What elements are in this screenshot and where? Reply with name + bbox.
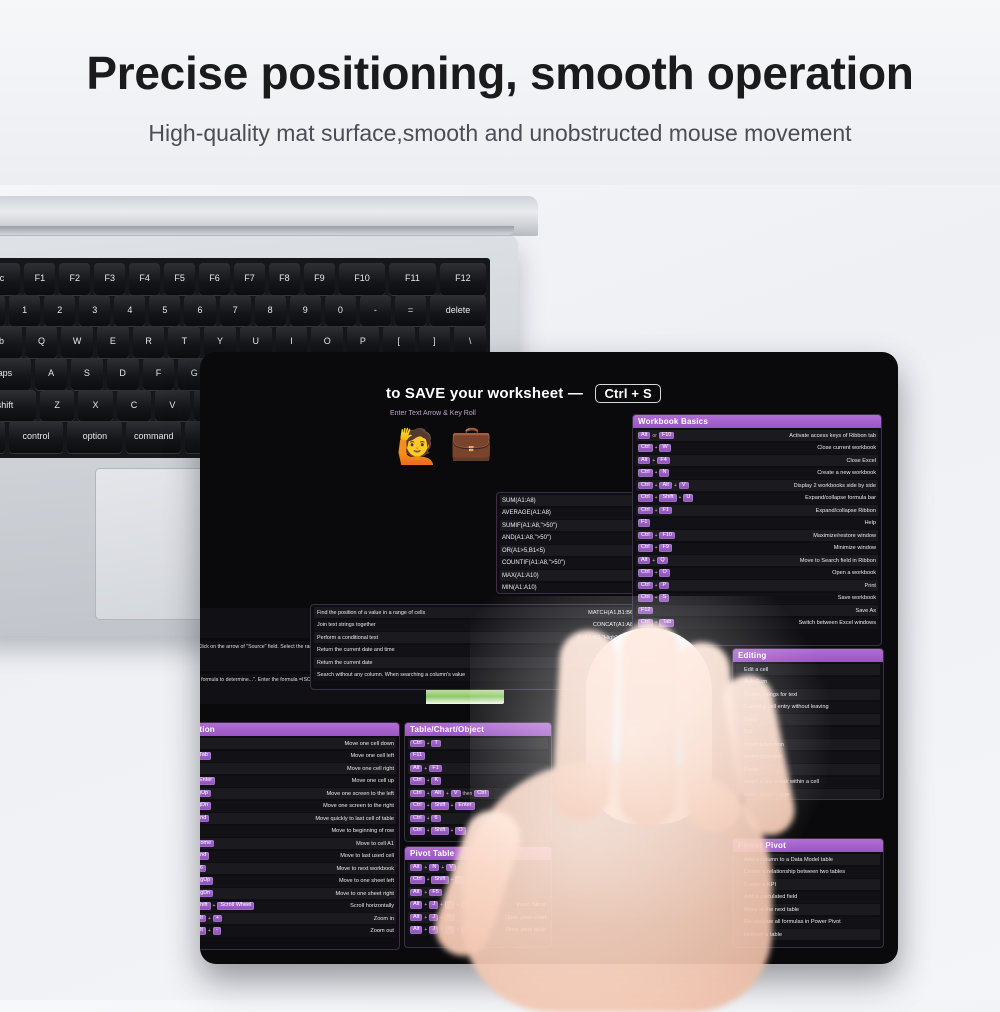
plus-separator: + (655, 570, 658, 576)
shortcut-description: Move one cell down (339, 741, 394, 747)
shortcut-keys: Ctrl+F1 (638, 507, 690, 515)
shortcut-description: Create a new workbook (811, 470, 876, 476)
keycap: End (200, 852, 209, 860)
keyboard-key[interactable]: - (360, 295, 391, 327)
keycap: Ctrl (638, 569, 653, 577)
shortcut-description: Scroll horizontally (344, 903, 394, 909)
plus-separator: + (655, 508, 658, 514)
shortcut-row: Ctrl+EndMove quickly to last cell of tab… (200, 813, 396, 824)
keycap: Ctrl (410, 777, 425, 785)
finger-middle (618, 622, 680, 828)
keyboard-key[interactable]: E (97, 326, 129, 358)
keycap: Ctrl (410, 790, 425, 798)
keycap: Alt (638, 557, 650, 565)
shortcut-keys: Enter (200, 740, 224, 748)
keyboard-key[interactable]: esc (0, 263, 20, 295)
keyboard-key[interactable]: R (133, 326, 165, 358)
shortcut-description: Zoom in (368, 916, 394, 922)
shortcut-row: Ctrl+F6Move to next workbook (200, 863, 396, 874)
keyboard-key[interactable]: C (117, 390, 151, 422)
shortcut-description: Move to next workbook (330, 866, 394, 872)
promo-header: Precise positioning, smooth operation Hi… (0, 0, 1000, 185)
keyboard-key[interactable]: delete (430, 295, 486, 327)
shortcut-row: HomeMove to beginning of row (200, 826, 396, 837)
keyboard-key[interactable]: 5 (149, 295, 180, 327)
keyboard-key[interactable]: 2 (44, 295, 75, 327)
keycap: Ctrl (638, 444, 653, 452)
human-hand (448, 612, 840, 1004)
keycap: Ctrl (638, 582, 653, 590)
keycap: Scroll Wheel (217, 902, 254, 910)
plus-separator: + (427, 877, 430, 883)
shortcut-row: Ctrl+PPrint (636, 580, 878, 591)
keyboard-key[interactable]: F10 (339, 263, 385, 295)
shortcut-keys: Tab (200, 765, 224, 773)
keycap: - (213, 927, 221, 935)
keycap: Shift (659, 494, 676, 502)
keycap: Ctrl (410, 802, 425, 810)
plus-separator: + (655, 445, 658, 451)
keyboard-key[interactable]: F11 (389, 263, 435, 295)
plus-separator: + (424, 890, 427, 896)
shortcut-row: Ctrl+Alt++Zoom in (200, 913, 396, 924)
laptop-lid (0, 196, 538, 236)
shortcut-keys: Alt+PgDn (200, 802, 224, 810)
plus-separator: + (441, 865, 444, 871)
shortcut-keys: Alt+F4 (638, 457, 690, 465)
shortcut-row: Ctrl+PgUpMove to one sheet left (200, 876, 396, 887)
keyboard-key[interactable]: 8 (255, 295, 286, 327)
keycap: Ctrl (410, 815, 425, 823)
keyboard-key[interactable]: F12 (440, 263, 486, 295)
shortcut-row: Ctrl+NCreate a new workbook (636, 468, 878, 479)
keyboard-key[interactable]: Z (40, 390, 74, 422)
shortcut-keys: Ctrl+F6 (200, 865, 224, 873)
keyboard-key[interactable]: 4 (114, 295, 145, 327)
shortcut-description: Move one screen to the right (317, 803, 394, 809)
shortcut-description: Move to cell A1 (350, 841, 394, 847)
keyboard-key[interactable]: F3 (94, 263, 125, 295)
shortcut-keys: Ctrl+Alt++ (200, 915, 224, 923)
keycap: Ctrl (410, 827, 425, 835)
formula-text: MAX(A1:A10) (502, 573, 539, 579)
plus-separator: + (652, 458, 655, 464)
keycap: PgDn (200, 802, 211, 810)
keycap: Ctrl (638, 482, 653, 490)
shortcut-description: Activate access keys of Ribbon tab (783, 433, 876, 439)
shortcut-row: Ctrl+F10Maximize/restore window (636, 530, 878, 541)
shortcut-description: Move to beginning of row (325, 828, 394, 834)
shortcut-row: EnterMove one cell down (200, 738, 396, 749)
keyboard-key[interactable]: 1 (9, 295, 40, 327)
keycap: N (659, 469, 669, 477)
keycap: End (200, 815, 209, 823)
shortcut-description: Print (858, 583, 876, 589)
shortcut-keys: Home (200, 827, 224, 835)
keycap: PgDn (200, 890, 213, 898)
shortcut-description: Minimize window (828, 545, 876, 551)
shortcut-keys: Ctrl+P (638, 582, 690, 590)
shortcut-keys: Ctrl+F10 (638, 532, 690, 540)
shortcut-row: Alt+QMove to Search field in Ribbon (636, 555, 878, 566)
shortcut-description: Save As (849, 608, 876, 614)
shortcut-keys: Alt+Q (638, 557, 690, 565)
seated-person-icon: 🙋 (396, 430, 438, 464)
shortcut-row: Ctrl+Alt+VDisplay 2 workbooks side by si… (636, 480, 878, 491)
shortcut-row: Shift+EnterMove one cell up (200, 776, 396, 787)
keyboard-key[interactable]: option (67, 421, 122, 453)
panel-rows: AltorF10Activate access keys of Ribbon t… (633, 428, 881, 632)
keycap: Shift (431, 802, 448, 810)
keyboard-row: ~1234567890-=delete (0, 295, 486, 327)
formula-text: AND(A1:A8,">50") (502, 535, 551, 541)
keyboard-key[interactable]: caps (0, 358, 31, 390)
keyboard-key[interactable]: fn (0, 421, 5, 453)
keyboard-key[interactable]: command (126, 421, 181, 453)
keyboard-key[interactable]: A (35, 358, 67, 390)
ctrl-s-keycap: Ctrl + S (595, 384, 660, 403)
plus-separator: + (208, 928, 211, 934)
keycap: Ctrl (638, 594, 653, 602)
shortcut-keys: Shift+Tab (200, 752, 224, 760)
plus-separator: + (427, 741, 430, 747)
keycap: Alt (410, 914, 422, 922)
shortcut-description: Expand/collapse Ribbon (810, 508, 876, 514)
plus-separator: + (427, 791, 430, 797)
page-title: Precise positioning, smooth operation (0, 46, 1000, 100)
keyboard-key[interactable]: ~ (0, 295, 5, 327)
shortcut-keys: Ctrl+Alt+- (200, 927, 224, 935)
keyboard-key[interactable]: F6 (199, 263, 230, 295)
shortcut-description: Help (858, 520, 876, 526)
keycap: Ctrl (638, 469, 653, 477)
keycap: V (679, 482, 689, 490)
mousepad-subtitle: Enter Text Arrow & Key Roll (390, 410, 476, 417)
keyboard-key[interactable]: F2 (59, 263, 90, 295)
keyboard-key[interactable]: F4 (129, 263, 160, 295)
keycap: F10 (659, 432, 674, 440)
keycap: J (429, 901, 438, 909)
formula-text: OR(A1>5,B1<5) (502, 548, 545, 554)
keyboard-key[interactable]: T (168, 326, 200, 358)
shortcut-row: AltorF10Activate access keys of Ribbon t… (636, 430, 878, 441)
keycap: Alt (410, 926, 422, 934)
plus-separator: + (424, 915, 427, 921)
keyboard-key[interactable]: F8 (269, 263, 300, 295)
shortcut-row: Ctrl+Shift+UExpand/collapse formula bar (636, 493, 878, 504)
plus-separator: + (427, 828, 430, 834)
keyboard-key[interactable]: X (78, 390, 112, 422)
shortcut-keys: Shift+Enter (200, 777, 224, 785)
keycap: Ctrl (638, 494, 653, 502)
formula-text: SUM(A1:A8) (502, 498, 536, 504)
plus-separator: + (424, 902, 427, 908)
formula-text: SUMIF(A1:A8,">50") (502, 523, 557, 529)
shortcut-keys: F1 (638, 519, 690, 527)
shortcut-row: Shift+TabMove one cell left (200, 751, 396, 762)
keyboard-key[interactable]: W (61, 326, 93, 358)
shortcut-keys: AltorF10 (638, 432, 690, 440)
shortcut-description: Move one screen to the left (321, 791, 394, 797)
shortcut-keys: Ctrl+Alt+V (638, 482, 690, 490)
shortcut-row: Ctrl+PgDnMove to one sheet right (200, 888, 396, 899)
keycap: PgUp (200, 877, 213, 885)
keyboard-key[interactable]: S (71, 358, 103, 390)
shortcut-description: Close Excel (840, 458, 876, 464)
keycap: F4 (657, 457, 669, 465)
shortcut-keys: Ctrl+N (638, 469, 690, 477)
plus-separator: + (679, 495, 682, 501)
shortcut-row: Ctrl+OOpen a workbook (636, 568, 878, 579)
keycap: Alt (638, 457, 650, 465)
keycap: P (659, 582, 669, 590)
plus-separator: + (655, 533, 658, 539)
plus-separator: + (424, 927, 427, 933)
keycap: Shift (431, 827, 448, 835)
shortcut-row: F1Help (636, 518, 878, 529)
keycap: Q (657, 557, 667, 565)
shortcut-description: Move to one sheet left (333, 878, 394, 884)
keycap: Shift (200, 902, 211, 910)
keycap: 6 (431, 815, 440, 823)
plus-separator: + (655, 495, 658, 501)
panel-rows: EnterMove one cell downShift+TabMove one… (200, 736, 399, 940)
keycap: W (659, 444, 670, 452)
shortcut-row: Ctrl+EndMove to last used cell (200, 851, 396, 862)
shortcut-description: Display 2 workbooks side by side (788, 483, 876, 489)
keycap: O (659, 569, 669, 577)
keyboard-key[interactable]: control (9, 421, 64, 453)
keycap: Shift (431, 876, 448, 884)
shortcut-keys: Ctrl+End (200, 852, 224, 860)
shortcut-description: Maximize/restore window (807, 533, 876, 539)
keycap: F9 (659, 544, 671, 552)
keycap: T (431, 740, 440, 748)
laptop-lid-lip (0, 226, 514, 235)
shortcut-description: Open a workbook (826, 570, 876, 576)
keycap: F10 (659, 532, 674, 540)
keyboard-key[interactable]: = (395, 295, 426, 327)
plus-separator: + (655, 470, 658, 476)
plus-separator: + (674, 483, 677, 489)
keyboard-key[interactable]: 0 (325, 295, 356, 327)
keycap: Alt (410, 765, 422, 773)
plus-separator: + (427, 803, 430, 809)
keycap: Alt (200, 927, 206, 935)
keycap: F1 (429, 765, 441, 773)
mousepad-title: to SAVE your worksheet — Ctrl + S (386, 384, 661, 403)
plus-separator: + (427, 816, 430, 822)
shortcut-description: Move quickly to last cell of table (309, 816, 394, 822)
plus-separator: + (213, 903, 216, 909)
shortcut-keys: Ctrl+End (200, 815, 224, 823)
panel-header: Navigation (200, 723, 399, 736)
shortcut-description: Move to Search field in Ribbon (794, 558, 876, 564)
keycap: U (683, 494, 693, 502)
plus-separator: + (208, 916, 211, 922)
mousepad-title-text: to SAVE your worksheet — (386, 385, 583, 402)
shortcut-keys: Ctrl+PgUp (200, 877, 224, 885)
keycap: F5 (429, 889, 441, 897)
plus-separator: + (652, 558, 655, 564)
shortcut-description: Close current workbook (811, 445, 876, 451)
keycap: Ctrl (638, 544, 653, 552)
keycap: K (431, 777, 441, 785)
key-separator: or (652, 433, 656, 439)
shortcut-description: Save workbook (832, 595, 876, 601)
keycap: Tab (200, 752, 211, 760)
shortcut-row: Ctrl+F9Minimize window (636, 543, 878, 554)
formula-text: COUNTIF(A1:A8,">50") (502, 560, 565, 566)
keycap: F11 (410, 752, 425, 760)
keycap: F6 (200, 865, 206, 873)
keyboard-key[interactable]: shift (0, 390, 36, 422)
shortcut-keys: Ctrl+S (638, 594, 690, 602)
shortcut-keys: Ctrl+W (638, 444, 690, 452)
keycap: Ctrl (638, 532, 653, 540)
keycap: Alt (410, 864, 422, 872)
shortcut-keys: Ctrl+Shift+U (638, 494, 693, 502)
keyboard-key[interactable]: D (107, 358, 139, 390)
shortcut-keys: Ctrl+Shift+Scroll Wheel (200, 902, 254, 910)
keyboard-key[interactable]: F9 (304, 263, 335, 295)
keycap: F1 (638, 519, 650, 527)
panel-navigation: NavigationEnterMove one cell downShift+T… (200, 722, 400, 950)
keyboard-key[interactable]: F7 (234, 263, 265, 295)
shortcut-row: Ctrl+Alt+-Zoom out (200, 926, 396, 937)
formula-text: MIN(A1:A10) (502, 585, 537, 591)
shortcut-row: Ctrl+Shift+Scroll WheelScroll horizontal… (200, 901, 396, 912)
shortcut-row: Alt+PgUpMove one screen to the left (200, 788, 396, 799)
plus-separator: + (655, 545, 658, 551)
shortcut-keys: Ctrl+F9 (638, 544, 690, 552)
keycap: N (429, 864, 439, 872)
shortcut-row: Ctrl+SSave workbook (636, 593, 878, 604)
shortcut-description: Zoom out (364, 928, 394, 934)
shortcut-row: Ctrl+WClose current workbook (636, 443, 878, 454)
keyboard-row: escF1F2F3F4F5F6F7F8F9F10F11F12 (0, 263, 486, 295)
keycap: Alt (659, 482, 671, 490)
shortcut-row: Ctrl+HomeMove to cell A1 (200, 838, 396, 849)
keycap: Alt (638, 432, 650, 440)
plus-separator: + (655, 483, 658, 489)
keyboard-key[interactable]: F5 (164, 263, 195, 295)
keycap: S (659, 594, 669, 602)
keycap: Alt (200, 915, 206, 923)
keycap: + (213, 915, 222, 923)
keyboard-key[interactable]: 3 (79, 295, 110, 327)
plus-separator: + (427, 778, 430, 784)
shortcut-row: Alt+F4Close Excel (636, 455, 878, 466)
shortcut-keys: Ctrl+PgDn (200, 890, 224, 898)
keyboard-key[interactable]: V (155, 390, 189, 422)
keycap: PgUp (200, 790, 211, 798)
keycap: Ctrl (410, 740, 425, 748)
shortcut-description: Move one cell up (346, 778, 394, 784)
shortcut-description: Move to one sheet right (330, 891, 394, 897)
formula-text: AVERAGE(A1:A8) (502, 510, 551, 516)
keycap: Ctrl (410, 876, 425, 884)
keyboard-key[interactable]: F1 (24, 263, 55, 295)
shortcut-keys: Ctrl+O (638, 569, 690, 577)
panel-header: Workbook Basics (633, 415, 881, 428)
plus-separator: + (424, 766, 427, 772)
keyboard-key[interactable]: tab (0, 326, 22, 358)
keycap: Alt (410, 901, 422, 909)
keyboard-key[interactable]: 6 (184, 295, 215, 327)
shortcut-keys: Ctrl+Home (200, 840, 224, 848)
shortcut-row: Ctrl+F1Expand/collapse Ribbon (636, 505, 878, 516)
keycap: Alt (410, 889, 422, 897)
keyboard-key[interactable]: 7 (220, 295, 251, 327)
keycap: F1 (659, 507, 671, 515)
keyboard-key[interactable]: Q (26, 326, 58, 358)
shortcut-row: Alt+PgDnMove one screen to the right (200, 801, 396, 812)
keyboard-key[interactable]: F (143, 358, 175, 390)
keycap: Ctrl (638, 507, 653, 515)
shortcut-description: Move one cell left (344, 753, 394, 759)
finger-index (551, 629, 619, 822)
page-subtitle: High-quality mat surface,smooth and unob… (0, 120, 1000, 147)
plus-separator: + (424, 865, 427, 871)
keycap: Enter (200, 777, 215, 785)
keycap: Alt (431, 790, 443, 798)
plus-separator: + (655, 583, 658, 589)
shortcut-row: TabMove one cell right (200, 763, 396, 774)
shortcut-description: Move to last used cell (334, 853, 394, 859)
shortcut-keys: Alt+PgUp (200, 790, 224, 798)
keyboard-key[interactable]: 9 (290, 295, 321, 327)
shortcut-description: Expand/collapse formula bar (799, 495, 876, 501)
keycap: Home (200, 840, 214, 848)
shortcut-description: Move one cell right (341, 766, 394, 772)
plus-separator: + (655, 595, 658, 601)
person-at-desk-icon: 💼 (450, 426, 492, 460)
